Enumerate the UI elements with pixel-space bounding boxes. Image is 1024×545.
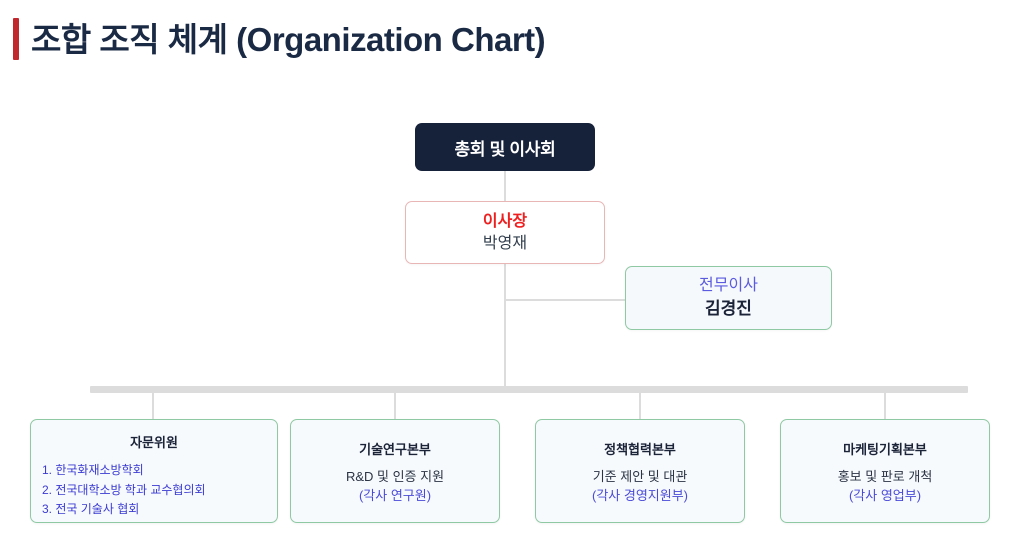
node-board[interactable]: 총회 및 이사회 — [415, 123, 595, 171]
node-policy-division[interactable]: 정책협력본부 기준 제안 및 대관 (각사 경영지원부) — [535, 419, 745, 523]
advisory-member-list: 1. 한국화재소방학회 2. 전국대학소방 학과 교수협의회 3. 전국 기술사… — [36, 461, 272, 519]
page-title: 조합 조직 체계 (Organization Chart) — [13, 18, 545, 60]
connector-chairman-spine — [504, 264, 506, 388]
node-rnd-desc: R&D 및 인증 지원 — [346, 468, 444, 487]
node-marketing-title: 마케팅기획본부 — [843, 441, 927, 459]
node-executive-director[interactable]: 전무이사 김경진 — [625, 266, 832, 330]
node-advisory-title: 자문위원 — [130, 434, 178, 452]
node-rnd-note: (각사 연구원) — [359, 487, 431, 506]
node-advisory-committee[interactable]: 자문위원 1. 한국화재소방학회 2. 전국대학소방 학과 교수협의회 3. 전… — [30, 419, 278, 523]
organization-chart-canvas: 조합 조직 체계 (Organization Chart) 총회 및 이사회 이… — [0, 0, 1024, 545]
node-board-label: 총회 및 이사회 — [455, 135, 556, 160]
connector-bus-to-rnd — [394, 393, 396, 419]
node-policy-desc: 기준 제안 및 대관 — [593, 468, 688, 487]
connector-division-bus-bar — [90, 386, 968, 393]
node-chairman[interactable]: 이사장 박영재 — [405, 201, 605, 264]
list-item: 1. 한국화재소방학회 — [42, 461, 272, 480]
node-executive-person: 김경진 — [705, 298, 752, 321]
node-marketing-desc: 홍보 및 판로 개척 — [838, 468, 933, 487]
node-chairman-role: 이사장 — [483, 211, 527, 233]
list-item: 2. 전국대학소방 학과 교수협의회 — [42, 481, 272, 500]
node-policy-title: 정책협력본부 — [604, 441, 676, 459]
node-marketing-division[interactable]: 마케팅기획본부 홍보 및 판로 개척 (각사 영업부) — [780, 419, 990, 523]
connector-board-to-chairman — [504, 171, 506, 201]
list-item: 3. 전국 기술사 협회 — [42, 500, 272, 519]
page-title-text: 조합 조직 체계 (Organization Chart) — [31, 23, 545, 56]
node-executive-role: 전무이사 — [699, 275, 758, 297]
node-rnd-title: 기술연구본부 — [359, 441, 431, 459]
node-rnd-division[interactable]: 기술연구본부 R&D 및 인증 지원 (각사 연구원) — [290, 419, 500, 523]
node-policy-note: (각사 경영지원부) — [592, 487, 688, 506]
connector-bus-to-advisory — [152, 393, 154, 419]
node-marketing-note: (각사 영업부) — [849, 487, 921, 506]
node-chairman-person: 박영재 — [483, 233, 527, 255]
connector-bus-to-policy — [639, 393, 641, 419]
title-accent-bar — [13, 18, 19, 60]
connector-bus-to-marketing — [884, 393, 886, 419]
connector-chairman-to-executive — [504, 299, 626, 301]
